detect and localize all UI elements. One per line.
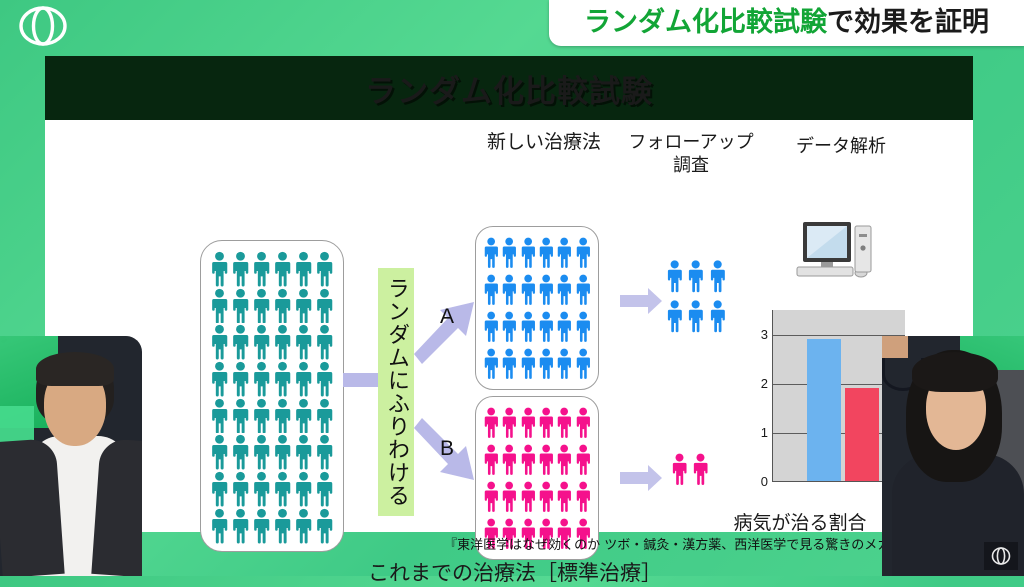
person-icon <box>314 251 335 287</box>
person-icon <box>272 398 293 434</box>
person-icon <box>209 434 230 470</box>
person-icon <box>482 405 500 440</box>
label-data-analysis: データ解析 <box>780 132 902 158</box>
person-icon <box>574 405 592 440</box>
broadcast-frame: ランダム化比較試験で効果を証明 ランダム化比較試験 新しい治療法 フォローアップ… <box>0 0 1024 576</box>
male-hair-top <box>36 352 114 386</box>
person-icon <box>209 361 230 397</box>
person-icon <box>251 324 272 360</box>
person-icon <box>209 288 230 324</box>
person-icon <box>272 434 293 470</box>
group-b-people-grid <box>482 405 592 551</box>
group-a-box <box>475 226 599 390</box>
person-icon <box>230 324 251 360</box>
female-presenter-inset <box>882 336 1024 576</box>
person-icon <box>519 235 537 270</box>
person-icon <box>230 361 251 397</box>
person-icon <box>574 442 592 477</box>
population-people-grid <box>209 251 335 541</box>
person-icon <box>293 288 314 324</box>
person-icon <box>230 434 251 470</box>
person-icon <box>500 346 518 381</box>
label-followup-survey: フォローアップ 調査 <box>615 132 767 177</box>
chart-bar <box>807 339 841 482</box>
followup-a-people-grid <box>665 258 727 334</box>
person-icon <box>230 508 251 544</box>
group-a-people-grid <box>482 235 592 381</box>
desktop-computer-icon <box>793 220 888 286</box>
person-icon <box>293 434 314 470</box>
person-icon <box>537 235 555 270</box>
person-icon <box>537 405 555 440</box>
person-icon <box>314 471 335 507</box>
person-icon <box>272 251 293 287</box>
headline-rest: で効果を証明 <box>827 7 989 38</box>
chart-y-tick-label: 1 <box>750 425 768 440</box>
person-icon <box>537 479 555 514</box>
person-icon <box>665 258 684 294</box>
arrow-followup-a-icon <box>620 288 662 314</box>
person-icon <box>314 508 335 544</box>
person-icon <box>251 251 272 287</box>
person-icon <box>708 258 727 294</box>
person-icon <box>482 309 500 344</box>
person-icon <box>482 272 500 307</box>
person-icon <box>500 479 518 514</box>
person-icon <box>537 442 555 477</box>
group-b-letter: B <box>440 437 454 461</box>
group-a-letter: A <box>440 305 454 329</box>
person-icon <box>537 272 555 307</box>
person-icon <box>251 361 272 397</box>
slide-panel: ランダム化比較試験 新しい治療法 フォローアップ 調査 データ解析 ランダムにふ… <box>45 56 973 532</box>
female-neck <box>882 336 908 358</box>
person-icon <box>537 309 555 344</box>
person-icon <box>293 508 314 544</box>
person-icon <box>500 235 518 270</box>
person-icon <box>209 324 230 360</box>
person-icon <box>555 309 573 344</box>
male-jacket-right <box>91 438 142 576</box>
person-icon <box>519 405 537 440</box>
person-icon <box>574 479 592 514</box>
person-icon <box>500 442 518 477</box>
person-icon <box>272 324 293 360</box>
person-icon <box>574 346 592 381</box>
headline-highlight: ランダム化比較試験 <box>584 7 827 38</box>
person-icon <box>230 251 251 287</box>
randomize-band: ランダムにふりわける <box>378 268 414 516</box>
person-icon <box>272 508 293 544</box>
person-icon <box>708 298 727 334</box>
person-icon <box>482 235 500 270</box>
person-icon <box>555 405 573 440</box>
person-icon <box>555 272 573 307</box>
male-jacket-left <box>0 438 65 576</box>
person-icon <box>482 479 500 514</box>
person-icon <box>519 442 537 477</box>
person-icon <box>574 309 592 344</box>
chart-y-tick-label: 2 <box>750 376 768 391</box>
person-icon <box>537 346 555 381</box>
person-icon <box>251 508 272 544</box>
person-icon <box>574 235 592 270</box>
label-followup-line1: フォローアップ <box>615 132 767 155</box>
person-icon <box>519 346 537 381</box>
person-icon <box>251 398 272 434</box>
person-icon <box>314 398 335 434</box>
headline-banner: ランダム化比較試験で効果を証明 <box>549 0 1024 46</box>
person-icon <box>209 251 230 287</box>
person-icon <box>230 471 251 507</box>
label-followup-line2: 調査 <box>615 155 767 178</box>
slide-title: ランダム化比較試験 <box>365 66 653 111</box>
person-icon <box>555 346 573 381</box>
person-icon <box>209 471 230 507</box>
person-icon <box>230 288 251 324</box>
person-icon <box>272 361 293 397</box>
person-icon <box>665 298 684 334</box>
person-icon <box>519 479 537 514</box>
broadcaster-logo-icon <box>12 4 74 48</box>
person-icon <box>314 288 335 324</box>
person-icon <box>251 471 272 507</box>
population-box <box>200 240 344 552</box>
female-presenter-frame <box>882 336 1024 576</box>
person-icon <box>293 324 314 360</box>
person-icon <box>574 272 592 307</box>
person-icon <box>293 398 314 434</box>
person-icon <box>500 272 518 307</box>
person-icon <box>230 398 251 434</box>
followup-b-people-grid <box>670 450 710 488</box>
person-icon <box>555 442 573 477</box>
person-icon <box>209 508 230 544</box>
slide-title-bar: ランダム化比較試験 <box>45 56 973 120</box>
label-standard-treatment: これまでの治療法［標準治療］ <box>345 557 685 587</box>
person-icon <box>209 398 230 434</box>
chart-y-tick-label: 0 <box>750 474 768 489</box>
person-icon <box>686 258 705 294</box>
person-icon <box>293 251 314 287</box>
person-icon <box>500 309 518 344</box>
chart-bar <box>845 388 879 481</box>
person-icon <box>482 442 500 477</box>
arrow-followup-b-icon <box>620 465 662 491</box>
person-icon <box>314 361 335 397</box>
person-icon <box>314 434 335 470</box>
male-presenter-inset <box>0 336 142 576</box>
person-icon <box>555 235 573 270</box>
person-icon <box>272 471 293 507</box>
person-icon <box>251 434 272 470</box>
randomize-label: ランダムにふりわける <box>380 277 412 507</box>
person-icon <box>519 309 537 344</box>
person-icon <box>555 479 573 514</box>
slide-content: 新しい治療法 フォローアップ 調査 データ解析 ランダムにふりわける <box>45 120 973 532</box>
person-icon <box>686 298 705 334</box>
male-presenter-frame <box>0 336 142 576</box>
person-icon <box>314 324 335 360</box>
person-icon <box>482 346 500 381</box>
chart-y-tick-label: 3 <box>750 327 768 342</box>
chart-x-label: 病気が治る割合 <box>700 508 900 535</box>
arrow-to-randomize-icon <box>343 366 383 394</box>
label-new-treatment: 新しい治療法 <box>464 127 624 154</box>
female-bangs <box>912 352 998 392</box>
person-icon <box>293 361 314 397</box>
person-icon <box>519 272 537 307</box>
person-icon <box>670 450 689 488</box>
person-icon <box>293 471 314 507</box>
person-icon <box>272 288 293 324</box>
corner-broadcaster-logo-icon <box>984 542 1018 570</box>
person-icon <box>691 450 710 488</box>
person-icon <box>251 288 272 324</box>
person-icon <box>500 405 518 440</box>
